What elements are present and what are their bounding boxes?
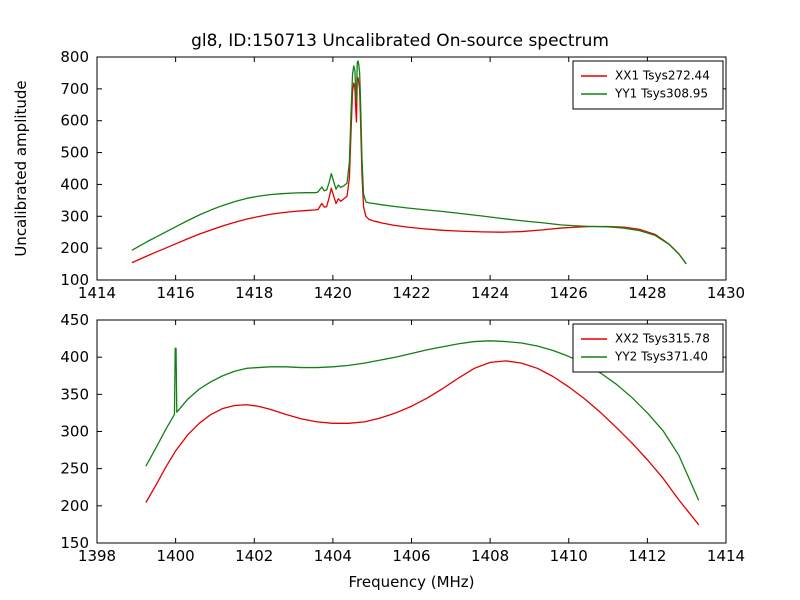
x-tick-label: 1426 (550, 284, 588, 302)
y-tick-label: 400 (60, 175, 89, 193)
legend-label: YY2 Tsys371.40 (614, 350, 708, 364)
x-tick-label: 1402 (235, 547, 273, 565)
legend-label: XX2 Tsys315.78 (615, 332, 710, 346)
legend-label: YY1 Tsys308.95 (614, 87, 708, 101)
y-tick-label: 250 (60, 460, 89, 478)
y-tick-label: 700 (60, 80, 89, 98)
y-tick-label: 800 (60, 48, 89, 66)
series-line-xx2 (146, 361, 698, 525)
x-tick-label: 1406 (392, 547, 430, 565)
y-tick-label: 100 (60, 271, 89, 289)
y-tick-label: 600 (60, 112, 89, 130)
y-tick-label: 400 (60, 348, 89, 366)
x-tick-label: 1422 (392, 284, 430, 302)
x-tick-label: 1404 (314, 547, 352, 565)
y-tick-label: 450 (60, 311, 89, 329)
plot-panel-1: 1414141614181420142214241426142814301002… (12, 48, 745, 302)
page-title: gl8, ID:150713 Uncalibrated On-source sp… (191, 31, 609, 51)
x-tick-label: 1412 (628, 547, 666, 565)
y-tick-label: 150 (60, 534, 89, 552)
x-tick-label: 1418 (235, 284, 273, 302)
y-tick-label: 350 (60, 385, 89, 403)
legend: XX1 Tsys272.44YY1 Tsys308.95 (573, 61, 723, 109)
x-tick-label: 1414 (707, 547, 745, 565)
x-tick-label: 1424 (471, 284, 509, 302)
spectrum-plot: gl8, ID:150713 Uncalibrated On-source sp… (0, 0, 800, 600)
y-axis-label: Uncalibrated amplitude (12, 80, 30, 256)
x-tick-label: 1410 (550, 547, 588, 565)
y-tick-label: 300 (60, 423, 89, 441)
legend-label: XX1 Tsys272.44 (615, 69, 710, 83)
legend: XX2 Tsys315.78YY2 Tsys371.40 (573, 324, 723, 372)
x-tick-label: 1430 (707, 284, 745, 302)
y-tick-label: 300 (60, 207, 89, 225)
x-tick-label: 1408 (471, 547, 509, 565)
x-tick-label: 1428 (628, 284, 666, 302)
x-tick-label: 1400 (157, 547, 195, 565)
x-tick-label: 1420 (314, 284, 352, 302)
x-tick-label: 1416 (157, 284, 195, 302)
y-tick-label: 500 (60, 144, 89, 162)
y-tick-label: 200 (60, 239, 89, 257)
figure-canvas: gl8, ID:150713 Uncalibrated On-source sp… (0, 0, 800, 600)
y-tick-label: 200 (60, 497, 89, 515)
x-axis-label: Frequency (MHz) (348, 573, 474, 591)
plot-panel-2: 1398140014021404140614081410141214141502… (60, 311, 745, 591)
